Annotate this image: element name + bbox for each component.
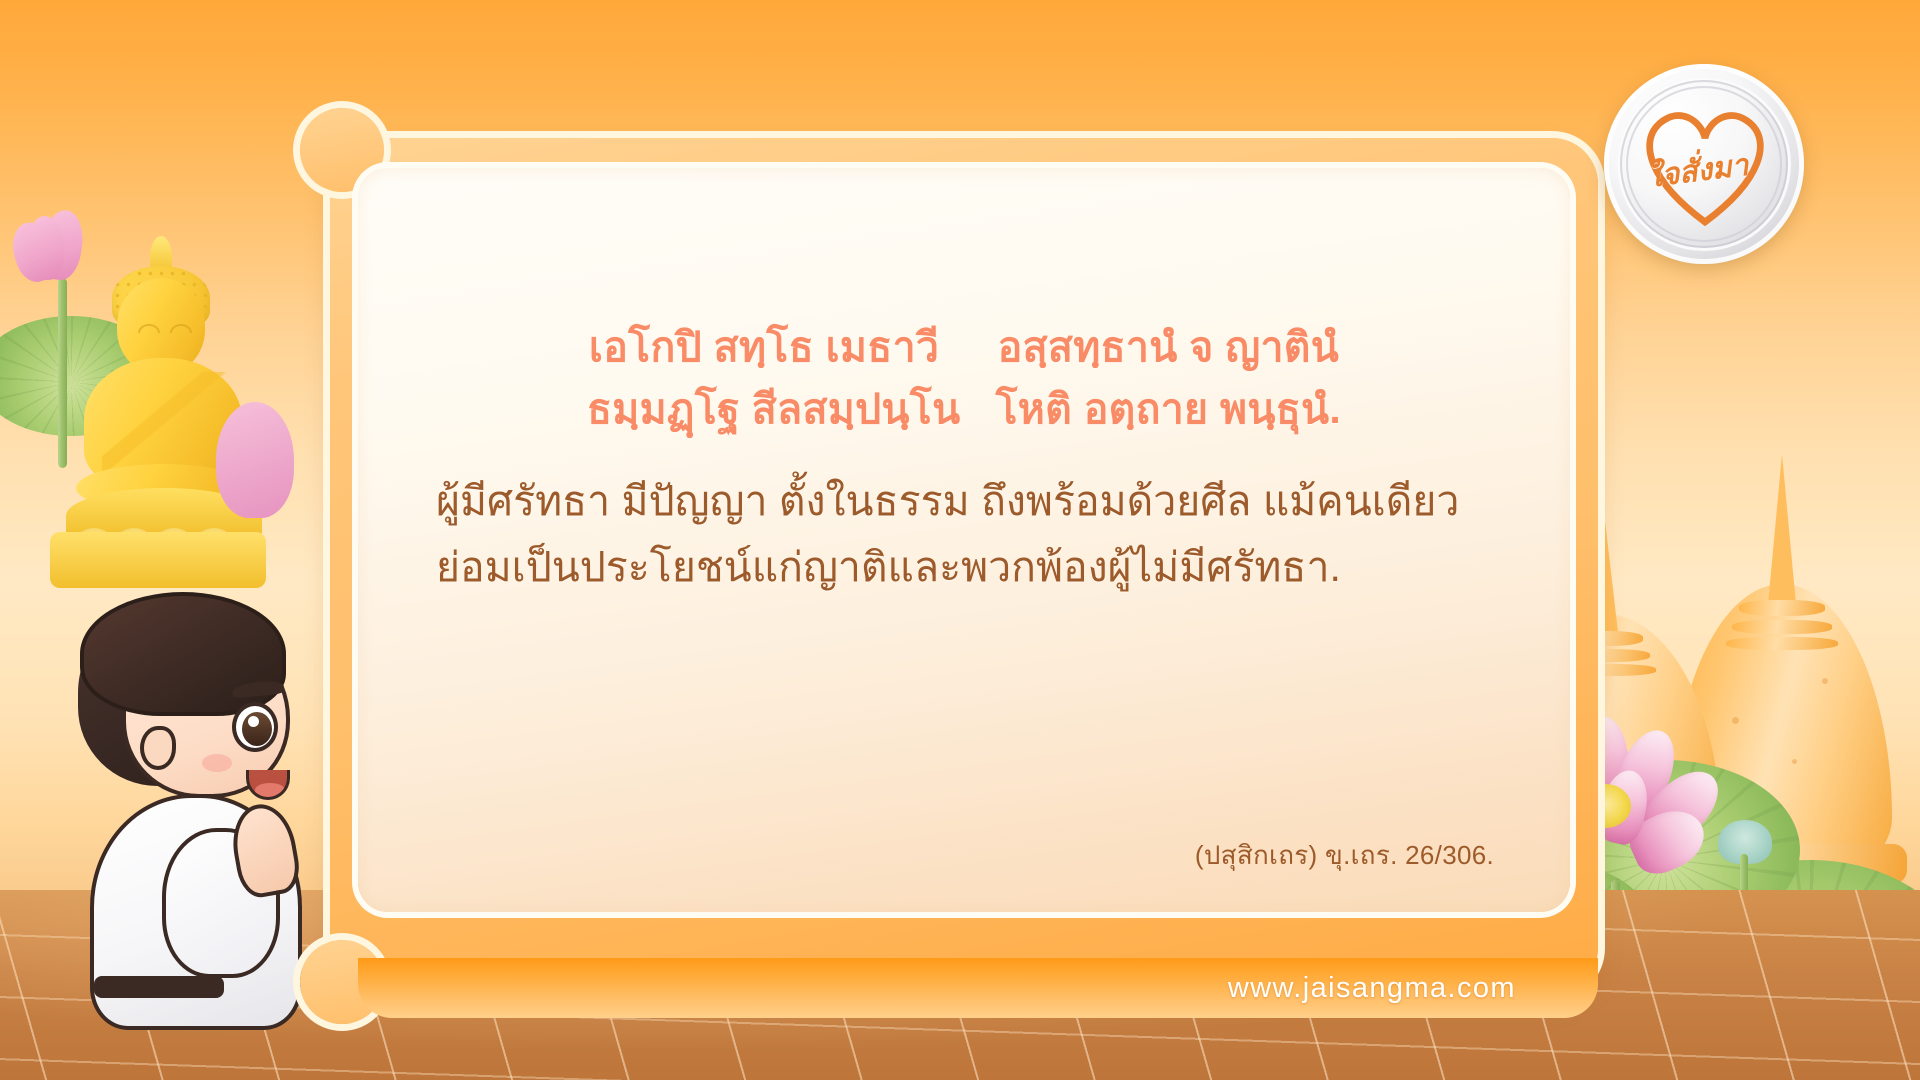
pali-line-2: ธมฺมฏฺโฐ สีลสมฺปนฺโน โหติ อตฺถาย พนฺธุนํ… (358, 378, 1570, 440)
lotus-petal-behind-buddha (216, 402, 294, 518)
website-bar: www.jaisangma.com (358, 958, 1598, 1018)
thai-translation: ผู้มีศรัทธา มีปัญญา ตั้งในธรรม ถึงพร้อมด… (436, 468, 1496, 601)
logo-text: ใจสั่งมา (1644, 141, 1751, 200)
scripture-reference: (ปสุสิกเถร) ขุ.เถร. 26/306. (1195, 835, 1494, 876)
pali-line-1: เอโกปิ สทฺโธ เมธาวี อสฺสทฺธานํ จ ญาตินํ (358, 316, 1570, 378)
pali-verse: เอโกปิ สทฺโธ เมธาวี อสฺสทฺธานํ จ ญาตินํ … (358, 316, 1570, 441)
praying-boy-character (36, 578, 336, 1038)
website-url[interactable]: www.jaisangma.com (1228, 972, 1516, 1005)
card-inner-panel: เอโกปิ สทฺโธ เมธาวี อสฺสทฺธานํ จ ญาตินํ … (358, 168, 1570, 912)
logo-badge[interactable]: ใจสั่งมา (1604, 64, 1804, 264)
